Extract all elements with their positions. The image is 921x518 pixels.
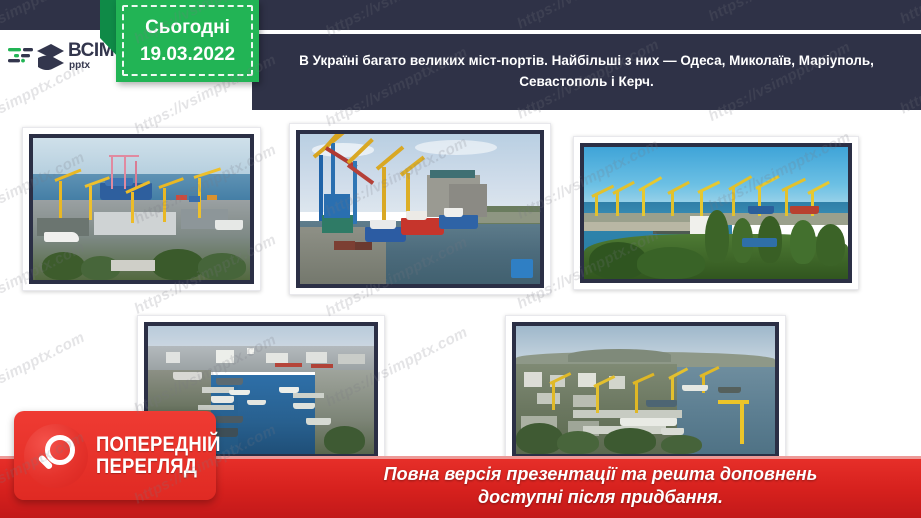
preview-badge-line-2: ПЕРЕГЛЯД <box>96 456 221 477</box>
photo-odesa-port <box>22 127 261 291</box>
photo-mykolaiv-port <box>289 123 551 295</box>
presentation-slide: ВСІМ pptx Сьогодні 19.03.2022 В Україні … <box>0 0 921 518</box>
photo-mariupol-port <box>573 136 859 290</box>
logo-subtitle: pptx <box>69 61 114 71</box>
graduation-cap-icon <box>7 39 65 73</box>
preview-badge-line-1: ПОПЕРЕДНІЙ <box>96 434 221 455</box>
banner-line-2: доступні після придбання. <box>478 486 723 509</box>
purchase-banner-text: Повна версія презентації та решта доповн… <box>280 457 921 515</box>
photo-kerch-port <box>505 315 786 465</box>
slide-title-panel: В Україні багато великих міст-портів. На… <box>252 34 921 110</box>
ribbon-label-today: Сьогодні <box>145 17 230 39</box>
ribbon-dashed-border <box>122 5 253 76</box>
slide-title-text: В Україні багато великих міст-портів. На… <box>268 51 905 93</box>
preview-badge[interactable]: ПОПЕРЕДНІЙ ПЕРЕГЛЯД <box>14 411 216 500</box>
brand-logo: ВСІМ pptx <box>0 30 116 82</box>
date-ribbon: Сьогодні 19.03.2022 <box>116 0 259 82</box>
ribbon-date: 19.03.2022 <box>140 44 235 66</box>
magnifier-icon <box>24 424 88 488</box>
banner-line-1: Повна версія презентації та решта доповн… <box>384 463 818 486</box>
